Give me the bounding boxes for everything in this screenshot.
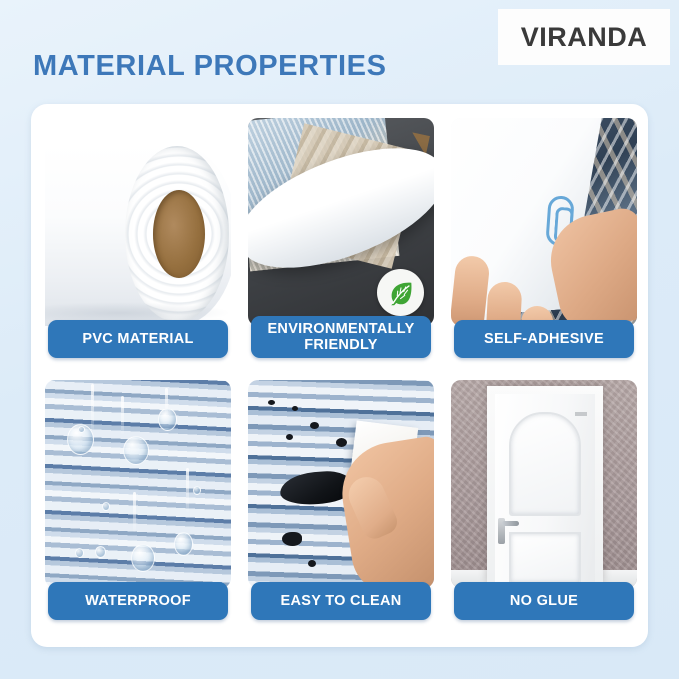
- water-droplet: [131, 544, 155, 572]
- card-banner-self-adhesive: SELF-ADHESIVE: [454, 320, 634, 358]
- door-slab: [495, 394, 595, 582]
- wiping-cloth-image: [248, 380, 434, 588]
- water-streak: [121, 396, 124, 434]
- stain-spot: [282, 532, 302, 546]
- card-label: NO GLUE: [510, 593, 578, 609]
- water-droplet: [102, 502, 110, 511]
- brand-badge: VIRANDA: [498, 9, 670, 65]
- card-label: SELF-ADHESIVE: [484, 331, 604, 347]
- card-banner-pvc-material: PVC MATERIAL: [48, 320, 228, 358]
- water-droplet: [95, 546, 106, 558]
- left-hand-finger: [451, 254, 491, 326]
- stain-spot: [268, 400, 275, 405]
- door-frame: [487, 386, 603, 582]
- peel-liner-hands-image: [451, 118, 637, 326]
- feature-card-pvc-material[interactable]: PVC MATERIAL: [45, 118, 231, 358]
- water-droplet: [78, 426, 85, 433]
- stain-spot: [336, 438, 347, 447]
- stain-spot: [292, 406, 298, 411]
- card-label: WATERPROOF: [85, 593, 191, 609]
- card-banner-waterproof: WATERPROOF: [48, 582, 228, 620]
- card-label: ENVIRONMENTALLY FRIENDLY: [257, 321, 425, 353]
- stain-spot: [310, 422, 319, 429]
- water-streak: [91, 384, 94, 430]
- water-droplet: [193, 486, 201, 495]
- card-banner-environmentally-friendly: ENVIRONMENTALLY FRIENDLY: [251, 316, 431, 358]
- feature-card-easy-to-clean[interactable]: EASY TO CLEAN: [248, 380, 434, 620]
- water-droplet: [75, 548, 84, 558]
- water-streak: [133, 492, 136, 532]
- feature-grid: PVC MATERIAL ENVIRONMENTALLY FRIENDLY: [45, 118, 637, 626]
- roll-core-shape: [153, 190, 205, 278]
- card-label: EASY TO CLEAN: [281, 593, 402, 609]
- feature-card-self-adhesive[interactable]: SELF-ADHESIVE: [451, 118, 637, 358]
- white-door-image: [451, 380, 637, 588]
- feature-card-environmentally-friendly[interactable]: ENVIRONMENTALLY FRIENDLY: [248, 118, 434, 358]
- feature-card-waterproof[interactable]: WATERPROOF: [45, 380, 231, 620]
- door-handle-icon: [498, 518, 505, 544]
- water-droplets-image: [45, 380, 231, 588]
- page-title: MATERIAL PROPERTIES: [33, 50, 387, 83]
- card-label: PVC MATERIAL: [82, 331, 193, 347]
- leaf-icon: [377, 269, 424, 316]
- water-droplet: [158, 408, 177, 431]
- door-panel-bottom: [509, 532, 581, 584]
- card-banner-no-glue: NO GLUE: [454, 582, 634, 620]
- brand-name: VIRANDA: [521, 22, 648, 53]
- card-banner-easy-to-clean: EASY TO CLEAN: [251, 582, 431, 620]
- water-streak: [186, 468, 189, 512]
- water-droplet: [123, 436, 149, 465]
- peeling-sheet-image: [248, 118, 434, 326]
- door-hinge: [575, 412, 587, 416]
- door-panel-top: [509, 412, 581, 516]
- stain-spot: [286, 434, 293, 440]
- pvc-roll-image: [45, 118, 231, 326]
- feature-card-no-glue[interactable]: NO GLUE: [451, 380, 637, 620]
- water-droplet: [174, 532, 193, 556]
- stain-spot: [308, 560, 316, 567]
